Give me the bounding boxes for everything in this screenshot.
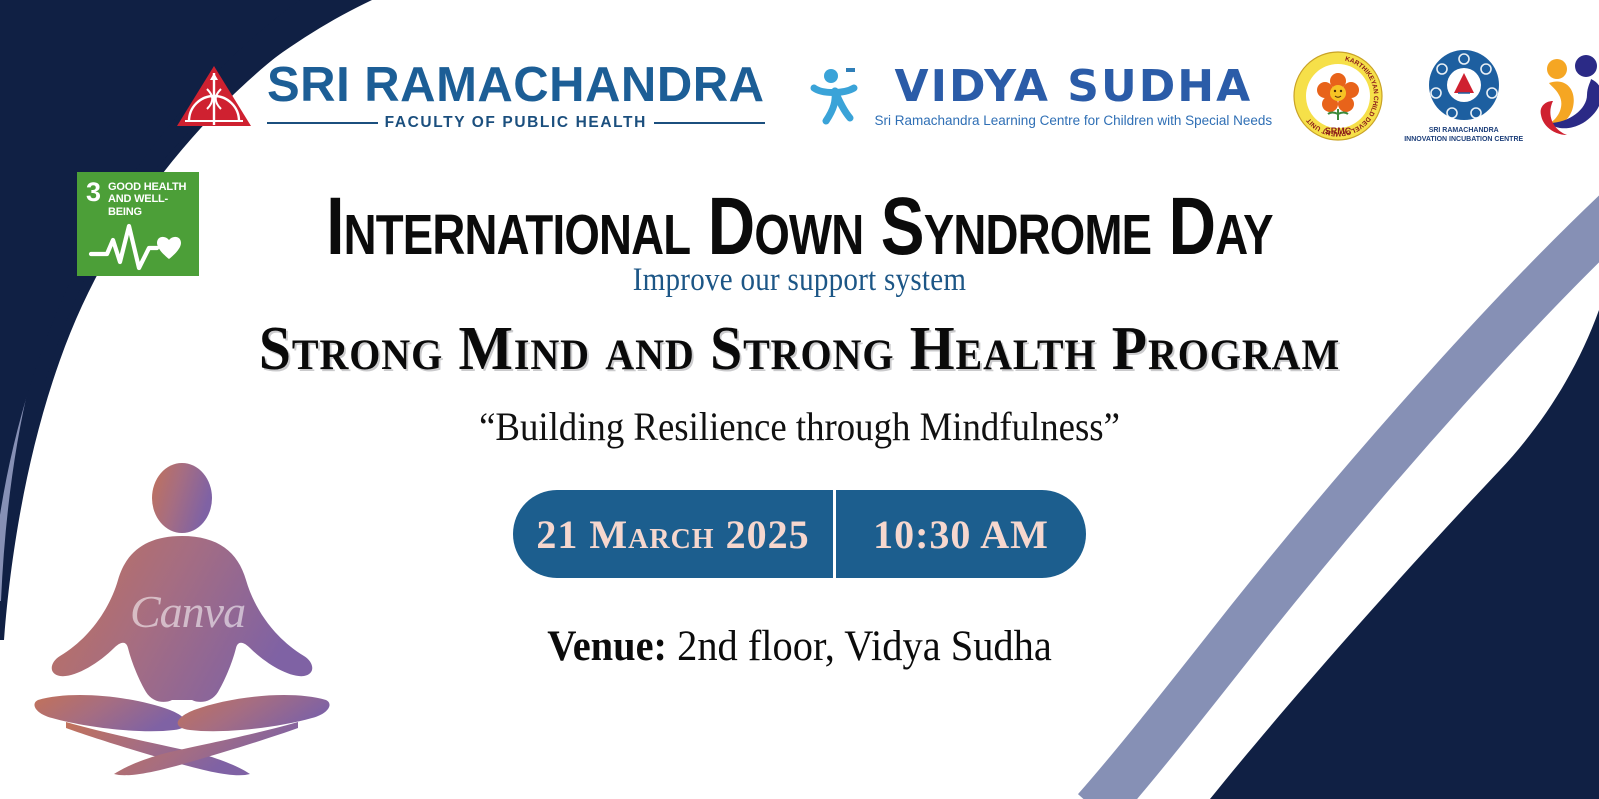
program-quote: “Building Resilience through Mindfulness… (64, 403, 1535, 450)
srm-rule-right (654, 122, 765, 124)
venue-value: 2nd floor, Vidya Sudha (677, 623, 1052, 670)
meditating-person-silhouette (22, 452, 342, 782)
vidya-sudha-title: VIDYA SUDHA (895, 65, 1253, 109)
sriic-line2: INNOVATION INCUBATION CENTRE (1404, 136, 1523, 145)
program-title: Strong Mind and Strong Health Program (56, 318, 1543, 380)
logo-iic: INSTITUTION'S INNOVATION COUNCIL (Minist… (1539, 53, 1599, 139)
svg-text:SRMC: SRMC (1325, 126, 1352, 136)
iic-people-swoosh-icon (1539, 53, 1599, 139)
sriic-line1: SRI RAMACHANDRA (1404, 127, 1523, 136)
srm-subtitle: FACULTY OF PUBLIC HEALTH (385, 115, 647, 131)
blue-innovation-gear-seal-icon (1422, 47, 1506, 125)
logo-vidya-sudha: VIDYA SUDHA Sri Ramachandra Learning Cen… (806, 65, 1272, 128)
event-poster: SRI RAMACHANDRA FACULTY OF PUBLIC HEALTH… (0, 0, 1599, 799)
event-time: 10:30 AM (836, 490, 1086, 578)
datetime-pill: 21 March 2025 10:30 AM (513, 490, 1086, 578)
venue-label: Venue: (547, 623, 667, 670)
logo-strip: SRI RAMACHANDRA FACULTY OF PUBLIC HEALTH… (175, 42, 1515, 150)
logo-sri-ramachandra: SRI RAMACHANDRA FACULTY OF PUBLIC HEALTH (175, 61, 764, 131)
logo-sriic: SRI RAMACHANDRA INNOVATION INCUBATION CE… (1404, 47, 1523, 145)
logo-kcdu-seal: KARTHIKEYAN CHILD DEVELOPMENT UNIT SRMC (1292, 50, 1384, 142)
red-triangle-caduceus-icon (175, 63, 253, 129)
vidya-sudha-subtitle: Sri Ramachandra Learning Centre for Chil… (874, 114, 1272, 128)
event-date: 21 March 2025 (513, 490, 833, 578)
srm-rule-left (267, 122, 378, 124)
blue-running-child-icon (806, 65, 864, 127)
srm-title: SRI RAMACHANDRA (267, 61, 764, 110)
page-tagline: Improve our support system (96, 262, 1503, 299)
page-title: International Down Syndrome Day (160, 186, 1439, 268)
sdg-number: 3 (86, 181, 101, 204)
srm-subtitle-row: FACULTY OF PUBLIC HEALTH (267, 115, 764, 131)
